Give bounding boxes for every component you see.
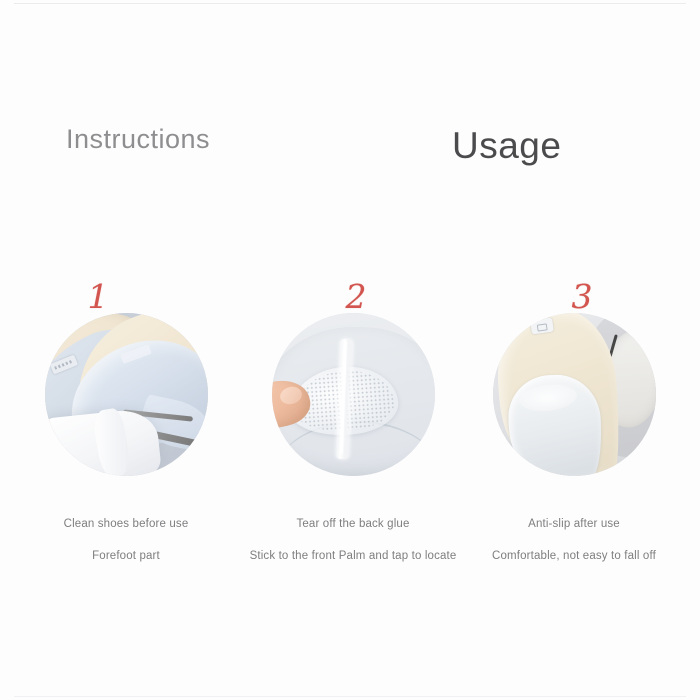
step-photo-circle: [493, 313, 656, 476]
step-caption-primary: Anti-slip after use: [458, 518, 690, 530]
page-title-instructions: Instructions: [66, 124, 210, 155]
step-photo-circle: [45, 313, 208, 476]
bottom-divider: [14, 696, 686, 697]
step-number-badge: 3: [466, 280, 698, 313]
step-caption-primary: Tear off the back glue: [237, 518, 469, 530]
step-photo-circle: [272, 313, 435, 476]
step-caption-secondary: Stick to the front Palm and tap to locat…: [237, 550, 469, 562]
step-number-badge: 1: [0, 280, 214, 313]
pad-installed-illustration: [493, 313, 656, 476]
step-item: 2 Tear off the back glue Stick to the fr…: [237, 280, 469, 580]
shoes-cleaning-illustration: [45, 313, 208, 476]
step-item: 3 Anti-slip after use Comfortable, not e…: [458, 280, 690, 580]
step-caption-primary: Clean shoes before use: [10, 518, 242, 530]
peel-backing-illustration: [272, 313, 435, 476]
page-title-usage: Usage: [452, 125, 561, 167]
steps-container: 1 Clean shoes before use: [0, 280, 700, 580]
step-caption-secondary: Forefoot part: [10, 550, 242, 562]
instruction-page: Instructions Usage 1: [0, 0, 700, 700]
step-caption-secondary: Comfortable, not easy to fall off: [458, 550, 690, 562]
step-item: 1 Clean shoes before use: [10, 280, 242, 580]
top-divider: [14, 3, 686, 4]
step-number-badge: 2: [240, 280, 472, 313]
